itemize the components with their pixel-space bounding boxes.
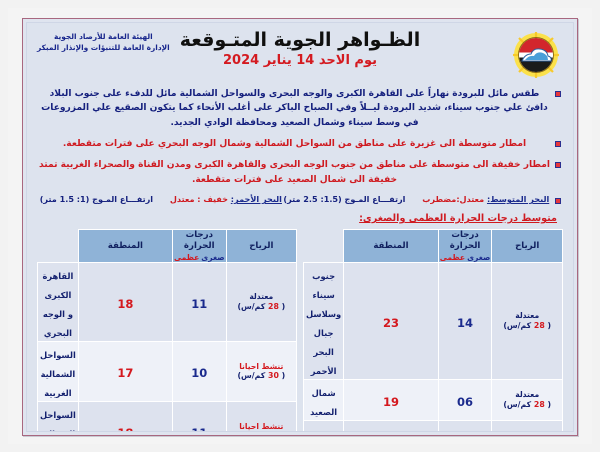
- cell-temp-max: 19: [344, 380, 439, 421]
- wind-speed-value: 28: [534, 321, 545, 330]
- table-header: الرياح درجات الحرارة صغرى عظمى المنطقة: [38, 230, 297, 263]
- bullet-text: امطار متوسطة الى غزيرة على مناطق من السو…: [39, 137, 550, 151]
- column-header-temperature-label: درجات الحرارة: [174, 230, 225, 251]
- forecast-document: الهيئة العامة للأرصاد الجوية الإدارة الع…: [22, 18, 578, 436]
- sea-wave-height: ارتفـــاع المـوج (1: 1.5 متر): [40, 194, 153, 204]
- table-body: معتدلة ( 28 كم/س) 11 18 القاهرة الكبرىو …: [38, 263, 297, 432]
- table-header-row: الرياح درجات الحرارة صغرى عظمى المنطقة: [38, 230, 297, 263]
- wind-speed-unit: كم/س: [241, 371, 265, 380]
- temp-max-value: 18: [117, 297, 133, 311]
- region-name: شمال الصعيد: [310, 388, 337, 417]
- title-block: الظـواهر الجوية المتـوقعة يوم الاحد 14 ي…: [27, 30, 573, 68]
- cell-temp-max: 18: [78, 263, 172, 342]
- region-name: جنوب الصعيد: [310, 429, 337, 432]
- cell-temp-max: 23: [344, 263, 439, 380]
- temp-min-value: 06: [457, 395, 473, 409]
- wind-speed-unit: كم/س: [241, 302, 265, 311]
- bullet-square-icon: [555, 91, 561, 97]
- cell-temp-min: 14: [438, 263, 492, 380]
- temperatures-section-title: متوسط درجات الحرارة العظمى والصغرى:: [27, 213, 557, 224]
- forecast-bullet-list: طقس مائل للبرودة نهاراً على القاهرة الكب…: [39, 87, 561, 187]
- page-title: الظـواهر الجوية المتـوقعة: [27, 30, 573, 52]
- region-name: السواحل الشمالية الغربية: [40, 350, 76, 398]
- column-header-wind: الرياح: [226, 230, 296, 263]
- table-row: تنشط احيانا ( 34 كم/س) 11 18 السواحل الش…: [38, 402, 297, 432]
- temp-min-value: 14: [457, 316, 473, 330]
- region-name: القاهرة الكبرىو الوجه البحري: [42, 271, 73, 338]
- bullet-item: امطار متوسطة الى غزيرة على مناطق من السو…: [39, 137, 561, 151]
- temperature-table-right: الرياح درجات الحرارة صغرى عظمى المنطقة: [37, 229, 297, 432]
- wind-state: تنشط احيانا: [229, 422, 294, 432]
- sea-wave-height: ارتفـــاع المـوج (1.5: 2.5 متر): [283, 194, 405, 204]
- temp-min-value: 11: [191, 426, 207, 432]
- cell-wind: معتدلة ( 28 كم/س): [226, 263, 296, 342]
- cell-temp-min: 11: [172, 402, 226, 432]
- sea-name: البحر المتوسط:: [487, 194, 549, 204]
- bullet-square-icon: [555, 162, 561, 168]
- temperature-table-left: الرياح درجات الحرارة صغرى عظمى المنطقة: [303, 229, 563, 432]
- column-header-region: المنطقة: [78, 230, 172, 263]
- wind-speed-unit: كم/س: [507, 400, 531, 409]
- wind-state: معتدلة: [229, 292, 294, 302]
- table-header: الرياح درجات الحرارة صغرى عظمى المنطقة: [304, 230, 563, 263]
- document-header: الهيئة العامة للأرصاد الجوية الإدارة الع…: [27, 23, 573, 85]
- temp-max-value: 19: [383, 395, 399, 409]
- cell-temp-max: 22: [344, 421, 439, 432]
- forecast-date: يوم الاحد 14 يناير 2024: [27, 53, 573, 68]
- cell-temp-min: 09: [438, 421, 492, 432]
- table-row: تنشط احيانا ( 30 كم/س) 10 17 السواحل الش…: [38, 342, 297, 402]
- bullet-text: امطار خفيفة الى متوسطة على مناطق من جنوب…: [39, 158, 550, 187]
- bullet-square-icon: [555, 141, 561, 147]
- wind-speed-value: 28: [534, 400, 545, 409]
- bullet-item: طقس مائل للبرودة نهاراً على القاهرة الكب…: [39, 87, 561, 130]
- cell-wind: معتدلة ( 24 كم/س): [492, 421, 563, 432]
- temp-min-value: 10: [191, 366, 207, 380]
- cell-region: جنوب سيناءوسلاسل جبال البحر الأحمر: [304, 263, 344, 380]
- cell-region: جنوب الصعيد: [304, 421, 344, 432]
- cell-temp-min: 11: [172, 263, 226, 342]
- table-header-row: الرياح درجات الحرارة صغرى عظمى المنطقة: [304, 230, 563, 263]
- wind-speed-unit: كم/س: [241, 431, 265, 432]
- wind-state: معتدلة: [494, 390, 560, 400]
- column-header-temperature-label: درجات الحرارة: [440, 230, 491, 251]
- wind-speed-value: 30: [268, 371, 279, 380]
- cell-temp-max: 17: [78, 342, 172, 402]
- region-name: السواحل الشمالية الشرقية: [40, 410, 76, 432]
- cell-wind: تنشط احيانا ( 30 كم/س): [226, 342, 296, 402]
- document-inner-frame: الهيئة العامة للأرصاد الجوية الإدارة الع…: [26, 22, 574, 432]
- wind-speed: ( 34 كم/س): [229, 431, 294, 432]
- column-header-temperature-min: درجات الحرارة صغرى عظمى: [438, 230, 492, 263]
- cell-temp-min: 06: [438, 380, 492, 421]
- sea-state: خفيف : معتدل: [170, 194, 228, 204]
- cell-wind: معتدلة ( 28 كم/س): [492, 263, 563, 380]
- region-name: جنوب سيناءوسلاسل جبال البحر الأحمر: [306, 271, 341, 376]
- cell-region: شمال الصعيد: [304, 380, 344, 421]
- wind-speed: ( 30 كم/س): [229, 371, 294, 381]
- wind-speed: ( 28 كم/س): [494, 400, 560, 410]
- sea-state: معتدل:مضطرب: [422, 194, 484, 204]
- temp-min-value: 11: [191, 297, 207, 311]
- table-row: معتدلة ( 28 كم/س) 11 18 القاهرة الكبرىو …: [38, 263, 297, 342]
- cell-wind: معتدلة ( 28 كم/س): [492, 380, 563, 421]
- column-header-min-label: صغرى: [467, 253, 490, 262]
- temp-max-value: 23: [383, 316, 399, 330]
- wind-speed-unit: كم/س: [507, 321, 531, 330]
- temp-max-value: 18: [117, 426, 133, 432]
- cell-region: السواحل الشمالية الغربية: [38, 342, 79, 402]
- wind-speed: ( 28 كم/س): [494, 321, 560, 331]
- sea-mediterranean: البحر المتوسط: معتدل:مضطرب ارتفـــاع الم…: [283, 194, 549, 204]
- wind-state: تنشط احيانا: [229, 362, 294, 372]
- wind-speed-value: 34: [268, 431, 279, 432]
- sea-red-sea: البحر الأحمر: خفيف : معتدل ارتفـــاع الم…: [40, 194, 282, 204]
- cell-region: القاهرة الكبرىو الوجه البحري: [38, 263, 79, 342]
- table-row: معتدلة ( 24 كم/س) 09 22 جنوب الصعيد: [304, 421, 563, 432]
- bullet-item: امطار خفيفة الى متوسطة على مناطق من جنوب…: [39, 158, 561, 187]
- column-header-max-label: عظمى: [174, 253, 199, 262]
- column-header-temperature-min: درجات الحرارة صغرى عظمى: [172, 230, 226, 263]
- column-header-min-label: صغرى: [201, 253, 224, 262]
- sea-name: البحر الأحمر:: [231, 194, 282, 204]
- wind-speed-value: 28: [268, 302, 279, 311]
- page-wrapper: الهيئة العامة للأرصاد الجوية الإدارة الع…: [8, 8, 592, 444]
- column-header-max-label: عظمى: [440, 253, 465, 262]
- sea-conditions-row: البحر المتوسط: معتدل:مضطرب ارتفـــاع الم…: [39, 194, 561, 204]
- cell-region: السواحل الشمالية الشرقية: [38, 402, 79, 432]
- wind-speed: ( 28 كم/س): [229, 302, 294, 312]
- cell-wind: تنشط احيانا ( 34 كم/س): [226, 402, 296, 432]
- column-header-wind: الرياح: [492, 230, 563, 263]
- cell-temp-min: 10: [172, 342, 226, 402]
- bullet-text: طقس مائل للبرودة نهاراً على القاهرة الكب…: [39, 87, 550, 130]
- temp-max-value: 17: [117, 366, 133, 380]
- wind-state: معتدلة: [494, 431, 560, 432]
- table-body: معتدلة ( 28 كم/س) 14 23 جنوب سيناءوسلاسل…: [304, 263, 563, 432]
- temperature-tables: الرياح درجات الحرارة صغرى عظمى المنطقة: [37, 229, 563, 432]
- column-header-region: المنطقة: [344, 230, 439, 263]
- wind-state: معتدلة: [494, 311, 560, 321]
- table-row: معتدلة ( 28 كم/س) 06 19 شمال الصعيد: [304, 380, 563, 421]
- table-row: معتدلة ( 28 كم/س) 14 23 جنوب سيناءوسلاسل…: [304, 263, 563, 380]
- bullet-square-icon: [555, 198, 561, 204]
- cell-temp-max: 18: [78, 402, 172, 432]
